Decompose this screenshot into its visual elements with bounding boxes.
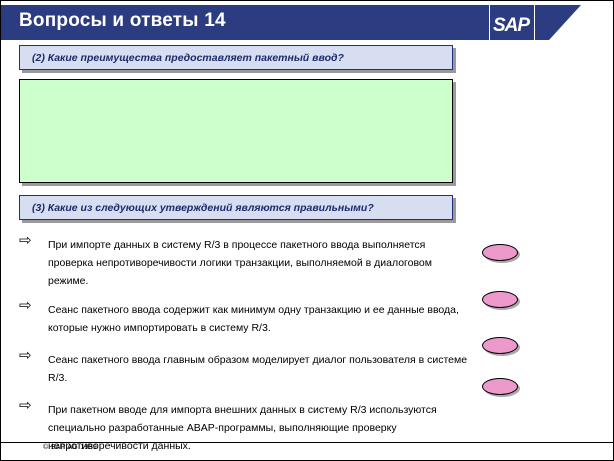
page-title: Вопросы и ответы 14 (19, 10, 226, 32)
question-2-box: (2) Какие преимущества предоставляет пак… (19, 45, 453, 70)
option-oval-1[interactable] (482, 244, 518, 261)
answer-input-area[interactable] (19, 79, 453, 183)
arrow-right-bullet-icon: ⇨ (19, 348, 43, 363)
copyright-text: © SAP AG 1999 (43, 444, 97, 451)
statement-text: При пакетном вводе для импорта внешних д… (48, 404, 437, 452)
sap-logo-divider-right (534, 5, 535, 40)
statement-text: Сеанс пакетного ввода содержит как миним… (48, 304, 459, 334)
sap-logo-divider-left (489, 5, 490, 40)
arrow-right-bullet-icon: ⇨ (19, 298, 43, 313)
question-2-text: (2) Какие преимущества предоставляет пак… (32, 52, 344, 64)
option-oval-2[interactable] (482, 291, 518, 308)
option-oval-3[interactable] (482, 337, 518, 354)
list-item: ⇨ При импорте данных в систему R/3 в про… (19, 235, 469, 289)
presentation-slide: Вопросы и ответы 14 SAP (2) Какие преиму… (0, 0, 614, 461)
sap-logo-text: SAP (493, 15, 529, 37)
list-item: ⇨ Сеанс пакетного ввода главным образом … (19, 350, 469, 386)
list-item: ⇨ Сеанс пакетного ввода содержит как мин… (19, 300, 469, 336)
option-oval-4[interactable] (482, 378, 518, 395)
statement-text: При импорте данных в систему R/3 в проце… (48, 239, 432, 287)
question-3-text: (3) Какие из следующих утверждений являю… (32, 202, 374, 214)
statement-list: ⇨ При импорте данных в систему R/3 в про… (19, 235, 469, 461)
statement-text: Сеанс пакетного ввода главным образом мо… (48, 354, 467, 384)
footer-divider (1, 442, 614, 443)
arrow-right-bullet-icon: ⇨ (19, 233, 43, 248)
arrow-right-bullet-icon: ⇨ (19, 398, 43, 413)
question-3-box: (3) Какие из следующих утверждений являю… (19, 195, 453, 220)
sap-logo: SAP (467, 5, 581, 40)
